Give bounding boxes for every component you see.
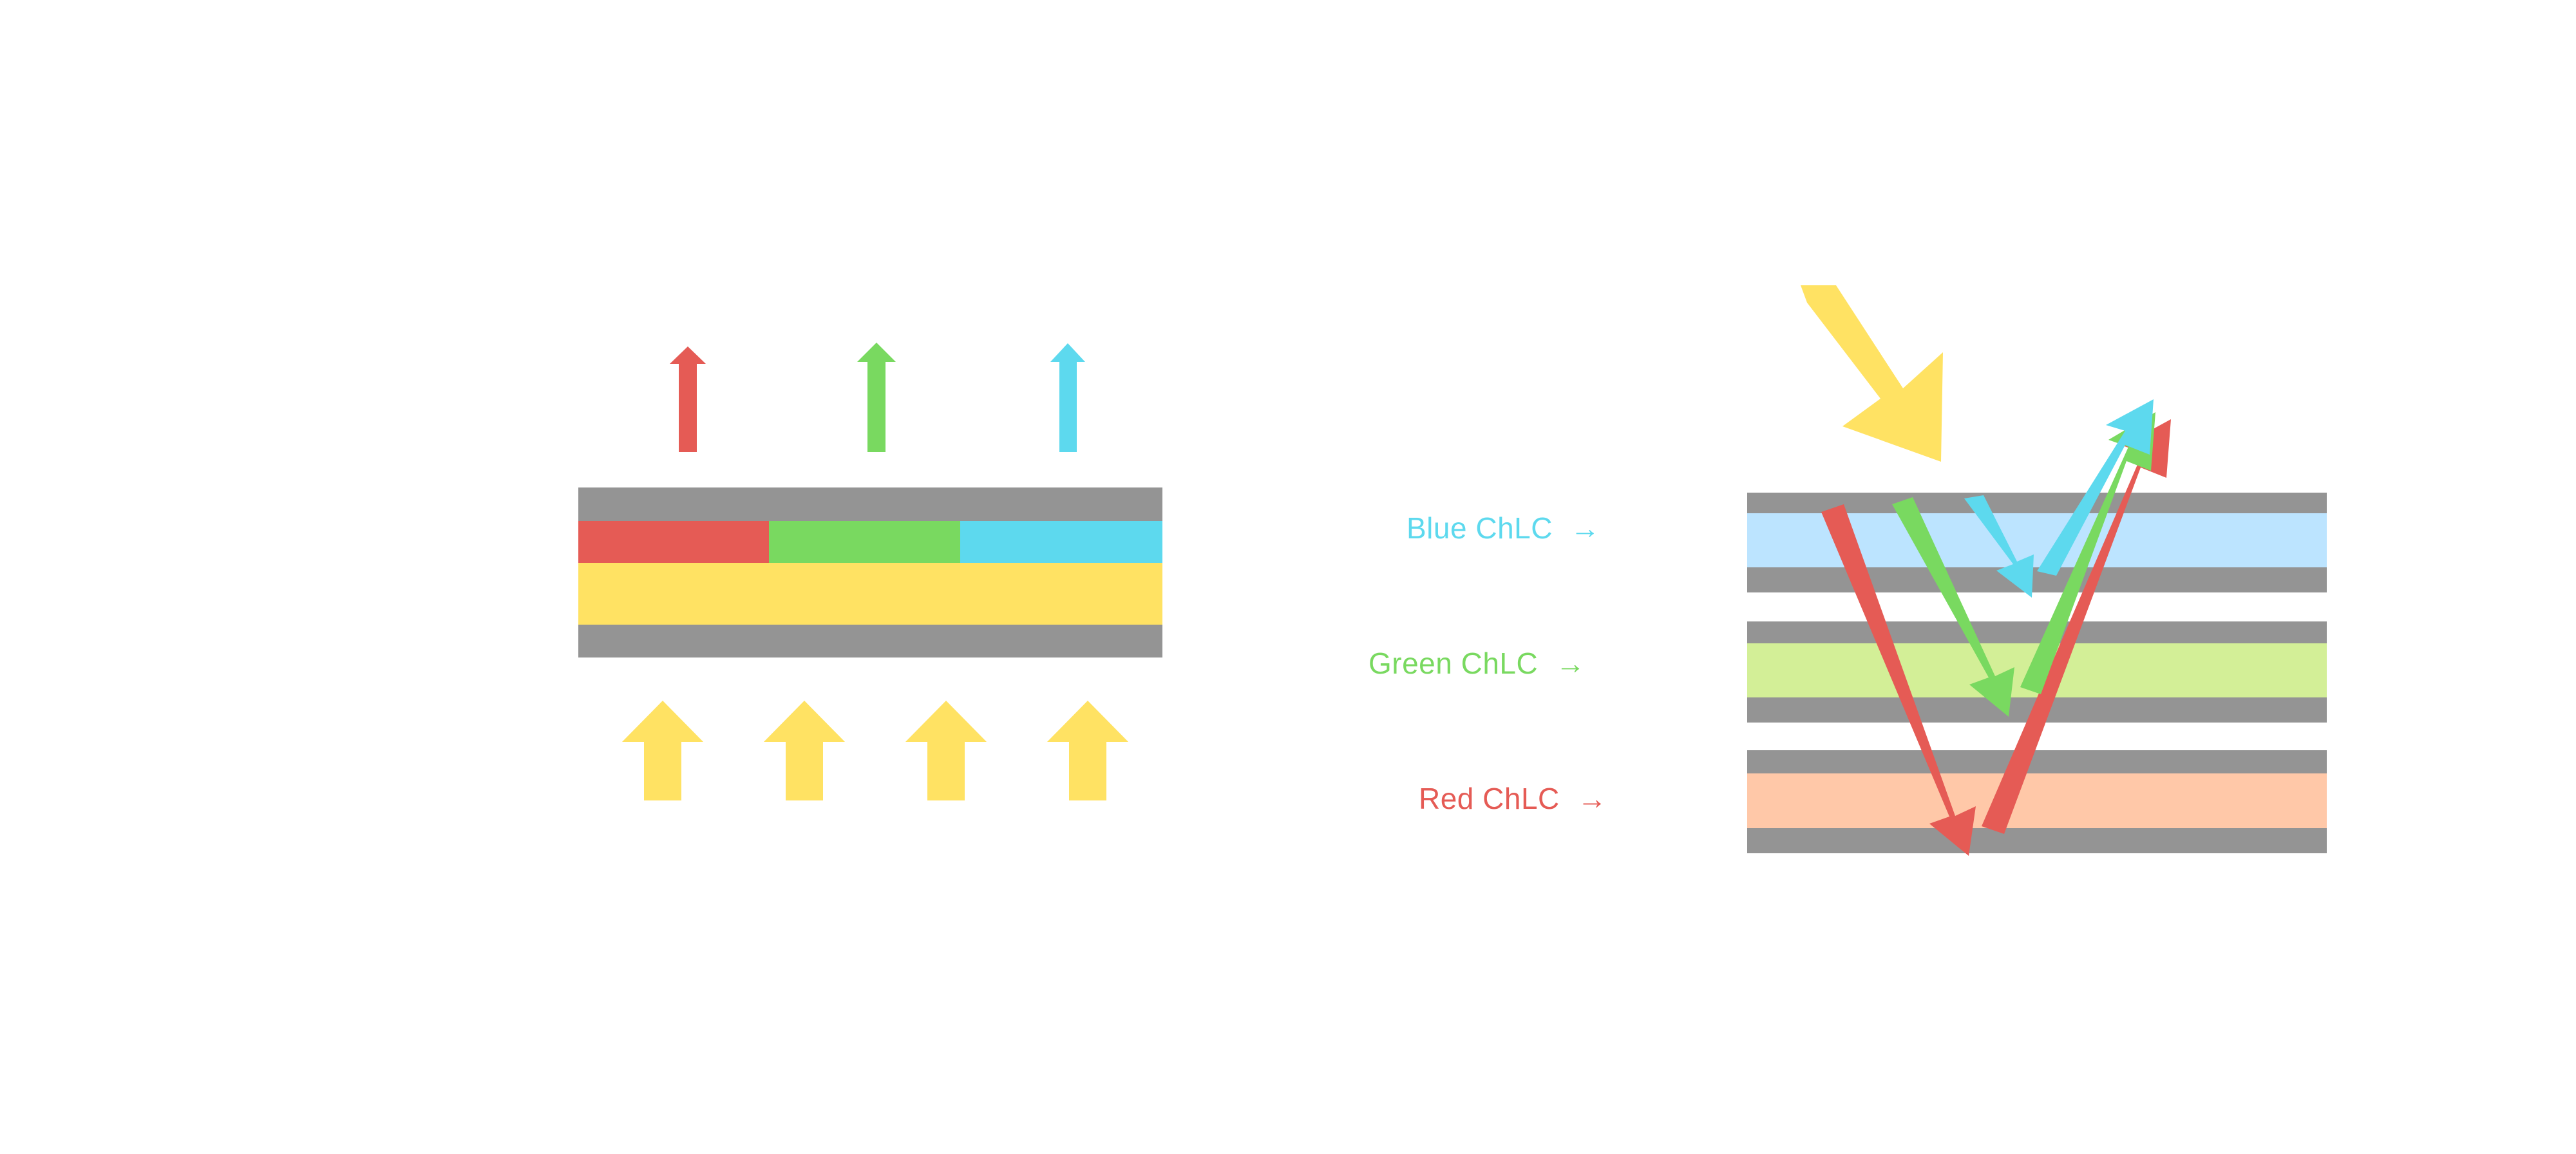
right-panel: Blue ChLC → Green ChLC → Red ChLC → (0, 0, 2576, 1154)
blue-cell-top-electrode (1747, 493, 2327, 513)
blue-cell-bottom-electrode (1747, 567, 2327, 592)
incident-white-light-arrow (1801, 285, 1943, 462)
red-cell-top-electrode (1747, 750, 2327, 773)
blue-chlc-label-text: Blue ChLC (1406, 511, 1553, 545)
red-chlc-cell (1747, 750, 2327, 853)
red-cell-bottom-electrode (1747, 828, 2327, 853)
red-chlc-label: Red ChLC → (1419, 781, 1607, 816)
green-cell-lc-layer (1747, 643, 2327, 697)
red-cell-lc-layer (1747, 773, 2327, 828)
red-chlc-label-text: Red ChLC (1419, 782, 1560, 815)
blue-cell-lc-layer (1747, 513, 2327, 567)
green-chlc-label: Green ChLC → (1368, 646, 1586, 681)
green-cell-bottom-electrode (1747, 697, 2327, 723)
blue-chlc-cell (1747, 493, 2327, 592)
blue-chlc-label: Blue ChLC → (1406, 511, 1600, 545)
red-chlc-label-arrow-icon: → (1577, 782, 1607, 815)
green-chlc-label-text: Green ChLC (1368, 647, 1538, 680)
figure-canvas: Blue ChLC → Green ChLC → Red ChLC → (0, 0, 2576, 1154)
green-chlc-cell (1747, 621, 2327, 723)
blue-chlc-label-arrow-icon: → (1570, 511, 1600, 545)
green-chlc-label-arrow-icon: → (1556, 647, 1586, 680)
green-cell-top-electrode (1747, 621, 2327, 643)
chlc-stack (1747, 493, 2327, 866)
